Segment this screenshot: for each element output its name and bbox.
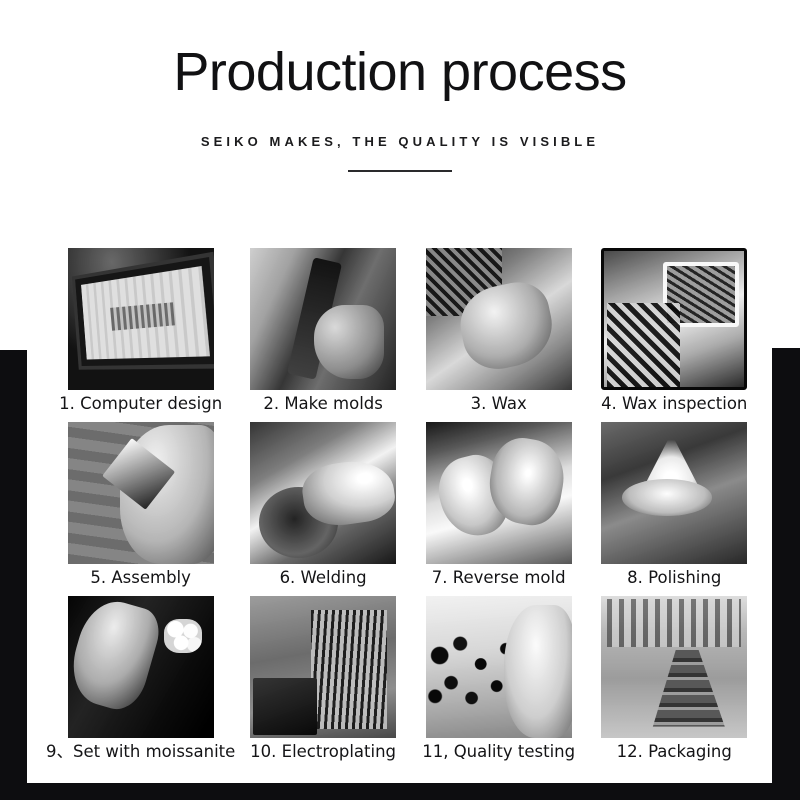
process-step: 4. Wax inspection bbox=[586, 248, 762, 422]
process-step: 9、Set with moissanite bbox=[46, 596, 235, 770]
assembly-photo bbox=[68, 422, 214, 564]
title-divider bbox=[348, 170, 452, 172]
process-step: 7. Reverse mold bbox=[411, 422, 587, 596]
process-step-label: 11, Quality testing bbox=[422, 743, 575, 761]
process-step-label: 8. Polishing bbox=[627, 569, 721, 587]
process-step: 11, Quality testing bbox=[411, 596, 587, 770]
process-step-label: 12. Packaging bbox=[617, 743, 732, 761]
wax-carving-photo bbox=[426, 248, 572, 390]
wax-inspection-photo bbox=[601, 248, 747, 390]
decorative-frame-bar-right bbox=[772, 348, 800, 800]
process-step-label: 5. Assembly bbox=[90, 569, 191, 587]
process-step: 8. Polishing bbox=[586, 422, 762, 596]
process-step: 2. Make molds bbox=[235, 248, 411, 422]
packaging-photo bbox=[601, 596, 747, 738]
decorative-frame-bar-left bbox=[0, 350, 27, 800]
quality-testing-photo bbox=[426, 596, 572, 738]
electroplating-photo bbox=[250, 596, 396, 738]
process-step-label: 10. Electroplating bbox=[250, 743, 396, 761]
computer-design-photo bbox=[68, 248, 214, 390]
page-title: Production process bbox=[0, 0, 800, 102]
welding-photo bbox=[250, 422, 396, 564]
process-step-label: 9、Set with moissanite bbox=[46, 743, 235, 761]
process-step-label: 2. Make molds bbox=[263, 395, 383, 413]
polishing-photo bbox=[601, 422, 747, 564]
process-step-label: 3. Wax bbox=[471, 395, 527, 413]
process-step-label: 6. Welding bbox=[280, 569, 367, 587]
process-step: 1. Computer design bbox=[46, 248, 235, 422]
reverse-mold-photo bbox=[426, 422, 572, 564]
process-step: 3. Wax bbox=[411, 248, 587, 422]
set-moissanite-photo bbox=[68, 596, 214, 738]
process-step: 12. Packaging bbox=[586, 596, 762, 770]
process-step: 5. Assembly bbox=[46, 422, 235, 596]
process-step: 10. Electroplating bbox=[235, 596, 411, 770]
process-step-label: 7. Reverse mold bbox=[432, 569, 566, 587]
page-subtitle: SEIKO MAKES, THE QUALITY IS VISIBLE bbox=[0, 102, 800, 149]
page-header: Production process SEIKO MAKES, THE QUAL… bbox=[0, 0, 800, 172]
decorative-frame-bar-bottom bbox=[0, 783, 800, 800]
make-molds-photo bbox=[250, 248, 396, 390]
process-step: 6. Welding bbox=[235, 422, 411, 596]
process-step-label: 1. Computer design bbox=[59, 395, 222, 413]
process-step-label: 4. Wax inspection bbox=[601, 395, 747, 413]
process-step-grid: 1. Computer design 2. Make molds 3. Wax … bbox=[46, 248, 762, 770]
